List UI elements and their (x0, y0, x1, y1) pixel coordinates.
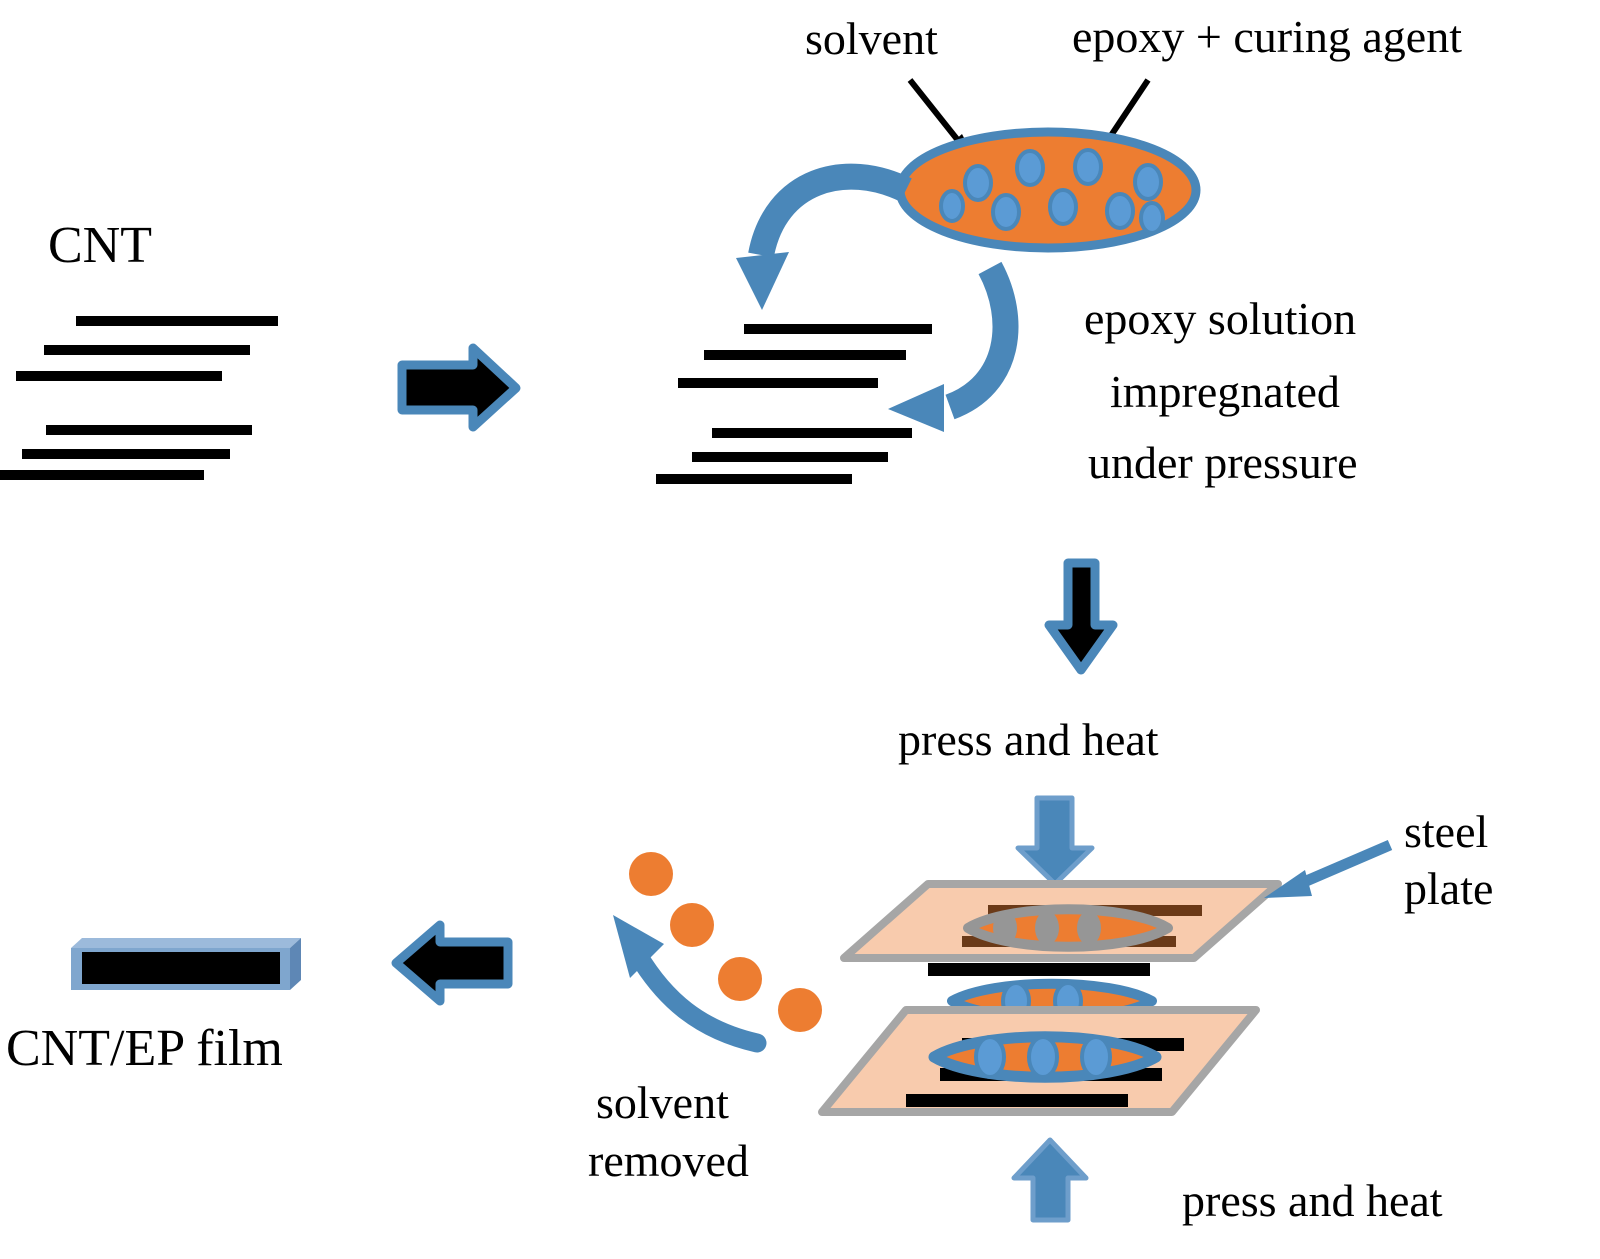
cnt-bar (44, 345, 250, 355)
solvent-droplet (778, 988, 822, 1032)
cnt-bar (656, 474, 852, 484)
cnt-label: CNT (48, 215, 152, 276)
cnt-bar (678, 378, 878, 388)
cnt-ep-film-label: CNT/EP film (6, 1018, 283, 1079)
plate-cnt-bar (906, 1094, 1128, 1107)
cnt-bar (744, 324, 932, 334)
press-bottom-arrow (1014, 1140, 1086, 1220)
impregnated-lens-middle (952, 983, 1152, 1019)
lower-steel-plate (822, 1010, 1256, 1112)
plate-cnt-bar (962, 936, 1176, 947)
steel-plate-line1: steel (1404, 805, 1488, 859)
press-and-heat-top-label: press and heat (898, 713, 1159, 767)
solvent-droplet (670, 903, 714, 947)
cnt-bar (712, 428, 912, 438)
solvent-removed-line2: removed (588, 1134, 749, 1188)
cnt-bar (46, 425, 252, 435)
steel-plate-pointer-arrow (1264, 845, 1390, 898)
plate-cnt-bar (988, 905, 1202, 916)
press-to-film-arrow (396, 925, 508, 1001)
solvent-label: solvent (805, 12, 938, 66)
plate-cnt-bar (962, 1038, 1184, 1051)
solvent-droplet (718, 957, 762, 1001)
cnt-bar (16, 371, 222, 381)
impregnated-lens-bottom (934, 1037, 1156, 1078)
press-and-heat-bottom-label: press and heat (1182, 1174, 1443, 1228)
solvent-pour-left-arrow (736, 177, 906, 310)
cnt-bar (692, 452, 888, 462)
solvent-removed-line1: solvent (596, 1076, 729, 1130)
cnt-bar (0, 470, 204, 480)
steel-plate-line2: plate (1404, 862, 1493, 916)
solvent-escape-arrow (613, 915, 757, 1043)
cnt-to-impregnation-arrow (402, 348, 516, 427)
solvent-label-pointer-arrow (910, 80, 982, 172)
epoxy-particles (941, 150, 1163, 233)
cnt-bar (76, 316, 278, 326)
press-top-arrow (1018, 798, 1092, 884)
solvent-droplet (629, 852, 673, 896)
epoxy-label-pointer-arrow (1086, 80, 1148, 170)
cnt-ep-film-product (71, 938, 301, 990)
diagram-canvas: CNT solvent epoxy + curing agent epoxy s… (0, 0, 1600, 1259)
cnt-bar (704, 350, 906, 360)
epoxy-solution-vessel (900, 132, 1196, 248)
to-press-arrow (1049, 563, 1113, 670)
solvent-droplets (629, 852, 822, 1032)
midstack-cnt-bar (928, 963, 1150, 976)
upper-steel-plate (844, 884, 1278, 958)
epoxy-curing-agent-label: epoxy + curing agent (1072, 10, 1462, 64)
epoxy-solution-line3: under pressure (1088, 436, 1358, 490)
cnt-bar (22, 449, 230, 459)
epoxy-solution-line2: impregnated (1110, 365, 1340, 419)
plate-cnt-bar (940, 1068, 1162, 1081)
impregnated-lens-top (968, 909, 1168, 947)
epoxy-solution-line1: epoxy solution (1084, 292, 1356, 346)
